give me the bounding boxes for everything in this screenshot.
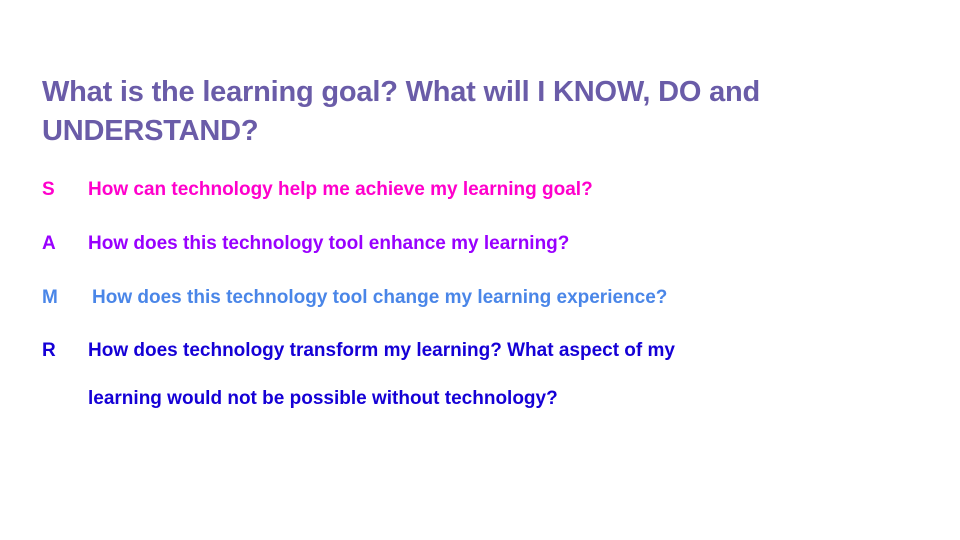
samr-text-s: How can technology help me achieve my le… <box>88 178 593 202</box>
samr-text-m: How does this technology tool change my … <box>88 286 667 310</box>
samr-letter-a: A <box>42 232 88 256</box>
samr-text-a: How does this technology tool enhance my… <box>88 232 569 256</box>
list-item-m: MHow does this technology tool change my… <box>42 286 942 310</box>
list-item-a: AHow does this technology tool enhance m… <box>42 232 942 256</box>
samr-list: SHow can technology help me achieve my l… <box>42 178 942 411</box>
samr-text-r-continuation: learning would not be possible without t… <box>42 387 942 411</box>
page-title: What is the learning goal? What will I K… <box>42 73 912 150</box>
list-item-s: SHow can technology help me achieve my l… <box>42 178 942 202</box>
list-item-r: RHow does technology transform my learni… <box>42 339 942 363</box>
samr-letter-s: S <box>42 178 88 202</box>
samr-letter-m: M <box>42 286 88 310</box>
samr-text-r: How does technology transform my learnin… <box>88 339 675 363</box>
samr-letter-r: R <box>42 339 88 363</box>
slide-canvas: What is the learning goal? What will I K… <box>0 0 960 540</box>
